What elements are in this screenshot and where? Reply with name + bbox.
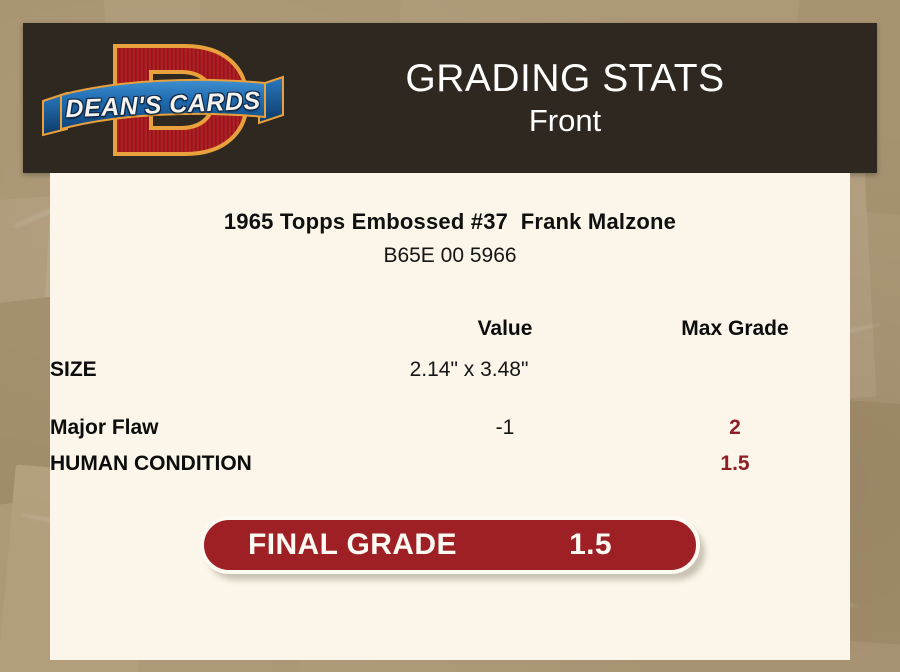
- column-header-max-grade: Max Grade: [620, 310, 850, 348]
- header-bar: DEAN'S CARDS GRADING STATS Front: [23, 23, 877, 173]
- card-serial-number: B65E 00 5966: [50, 244, 850, 268]
- row-max-grade-size: [620, 348, 850, 392]
- row-value-human-condition: [390, 446, 620, 482]
- deans-cards-logo[interactable]: DEAN'S CARDS: [23, 23, 293, 173]
- column-header-value: Value: [390, 310, 620, 348]
- card-title: 1965 Topps Embossed #37 Frank Malzone: [50, 209, 850, 235]
- row-max-grade-major-flaw: 2: [620, 410, 850, 446]
- logo-ribbon-icon: DEAN'S CARDS: [41, 71, 285, 139]
- table-body: SIZE 2.14" x 3.48" Major Flaw -1 2 HUMAN…: [50, 348, 850, 482]
- row-value-size: 2.14" x 3.48": [390, 348, 620, 392]
- page-title: GRADING STATS: [293, 57, 837, 101]
- final-grade-bar: FINAL GRADE 1.5: [200, 516, 700, 574]
- content-panel: 1965 Topps Embossed #37 Frank Malzone B6…: [50, 173, 850, 660]
- header-titles: GRADING STATS Front: [293, 57, 877, 138]
- row-value-major-flaw: -1: [390, 410, 620, 446]
- row-label-major-flaw: Major Flaw: [50, 410, 390, 446]
- final-grade-score: 1.5: [569, 528, 612, 562]
- column-header-label: [50, 310, 390, 348]
- table-row-human-condition: HUMAN CONDITION 1.5: [50, 446, 850, 482]
- row-label-human-condition: HUMAN CONDITION: [50, 446, 390, 482]
- grading-stats-page: DEAN'S CARDS GRADING STATS Front 1965 To…: [0, 0, 900, 672]
- row-max-grade-human-condition: 1.5: [620, 446, 850, 482]
- final-grade-label: FINAL GRADE: [248, 528, 457, 562]
- grading-stats-table: Value Max Grade SIZE 2.14" x 3.48" Major…: [50, 310, 850, 482]
- table-row-size: SIZE 2.14" x 3.48": [50, 348, 850, 392]
- table-row-spacer: [50, 392, 850, 410]
- final-grade-section: FINAL GRADE 1.5: [50, 516, 850, 574]
- page-subtitle: Front: [293, 103, 837, 139]
- table-header: Value Max Grade: [50, 310, 850, 348]
- row-label-size: SIZE: [50, 348, 390, 392]
- table-header-row: Value Max Grade: [50, 310, 850, 348]
- table-row-major-flaw: Major Flaw -1 2: [50, 410, 850, 446]
